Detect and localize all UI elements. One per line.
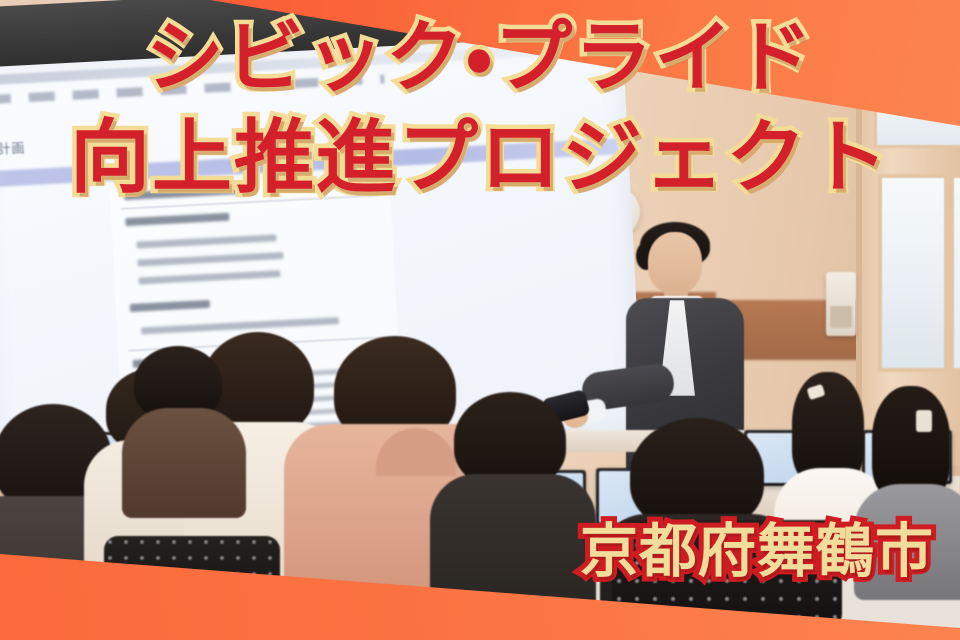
doc-section-title-1 — [124, 186, 244, 200]
slide-heading: の計画 — [0, 137, 26, 158]
city-label: 京都府舞鶴市 — [580, 520, 934, 582]
doc-bullet-3 — [138, 270, 280, 284]
door-glass-panel-right — [950, 174, 960, 372]
doc-section-title-3 — [130, 300, 210, 312]
attendee-brown — [122, 346, 232, 466]
door-glass-panel-left — [878, 174, 948, 372]
poster-canvas: の計画 — [0, 0, 960, 640]
doc-bullet-1 — [136, 234, 276, 248]
doc-section-title-2 — [125, 213, 229, 226]
doc-bullet-2 — [137, 252, 283, 267]
hair-clip-icon-2 — [916, 410, 932, 432]
wall-phone-icon — [826, 272, 856, 336]
